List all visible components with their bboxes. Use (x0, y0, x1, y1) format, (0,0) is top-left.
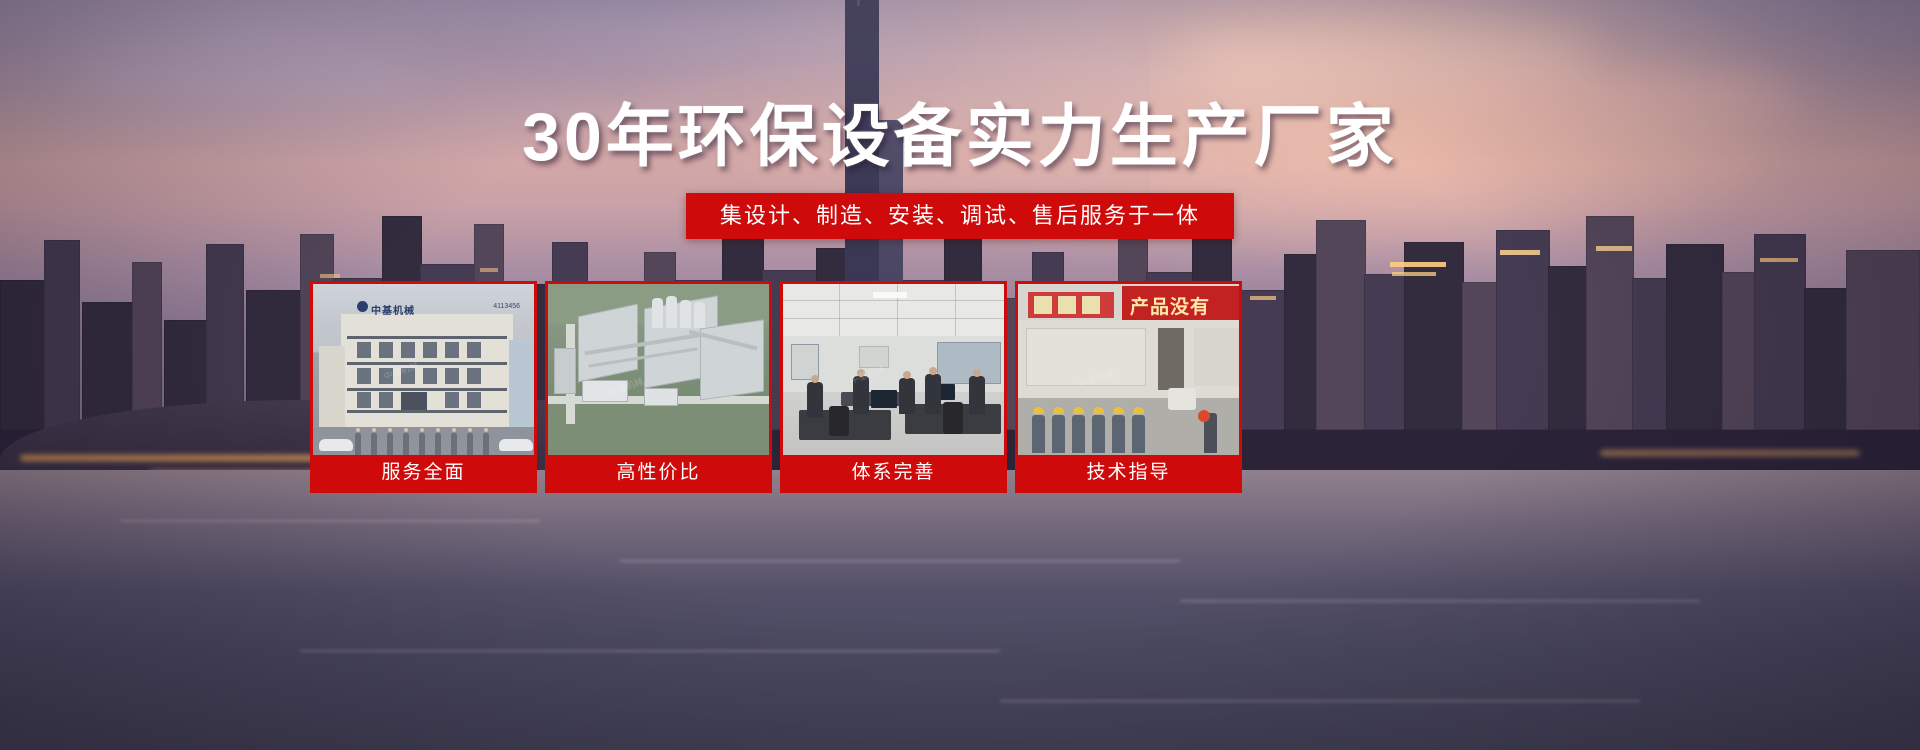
card-label-service: 服务全面 (313, 455, 534, 490)
banner-headline: 30年环保设备实力生产厂家 (0, 97, 1920, 177)
hero-banner: 30年环保设备实力生产厂家 集设计、制造、安装、调试、售后服务于一体 中基机械 … (0, 0, 1920, 750)
building-phone-text: 4113456 (493, 303, 520, 310)
card-photo-office-interior: 中基机械 (783, 284, 1004, 461)
banner-subtitle-ribbon: 集设计、制造、安装、调试、售后服务于一体 (686, 193, 1234, 239)
building-sign-text: 中基机械 (371, 302, 415, 317)
feature-card-service[interactable]: 中基机械 4113456 (310, 281, 537, 493)
feature-card-system[interactable]: 中基机械 体系完善 (780, 281, 1007, 493)
feature-card-technical[interactable]: 产品没有 (1015, 281, 1242, 493)
card-label-technical: 技术指导 (1018, 455, 1239, 490)
factory-banner-text: 产品没有 (1130, 292, 1210, 319)
card-photo-factory-workers: 产品没有 (1018, 284, 1239, 461)
card-photo-office-building: 中基机械 4113456 (313, 284, 534, 461)
feature-card-list: 中基机械 4113456 (310, 281, 1260, 493)
card-label-value: 高性价比 (548, 455, 769, 490)
card-label-system: 体系完善 (783, 455, 1004, 490)
feature-card-value[interactable]: 中基机械 高性价比 (545, 281, 772, 493)
card-photo-aerial-plant: 中基机械 (548, 284, 769, 461)
